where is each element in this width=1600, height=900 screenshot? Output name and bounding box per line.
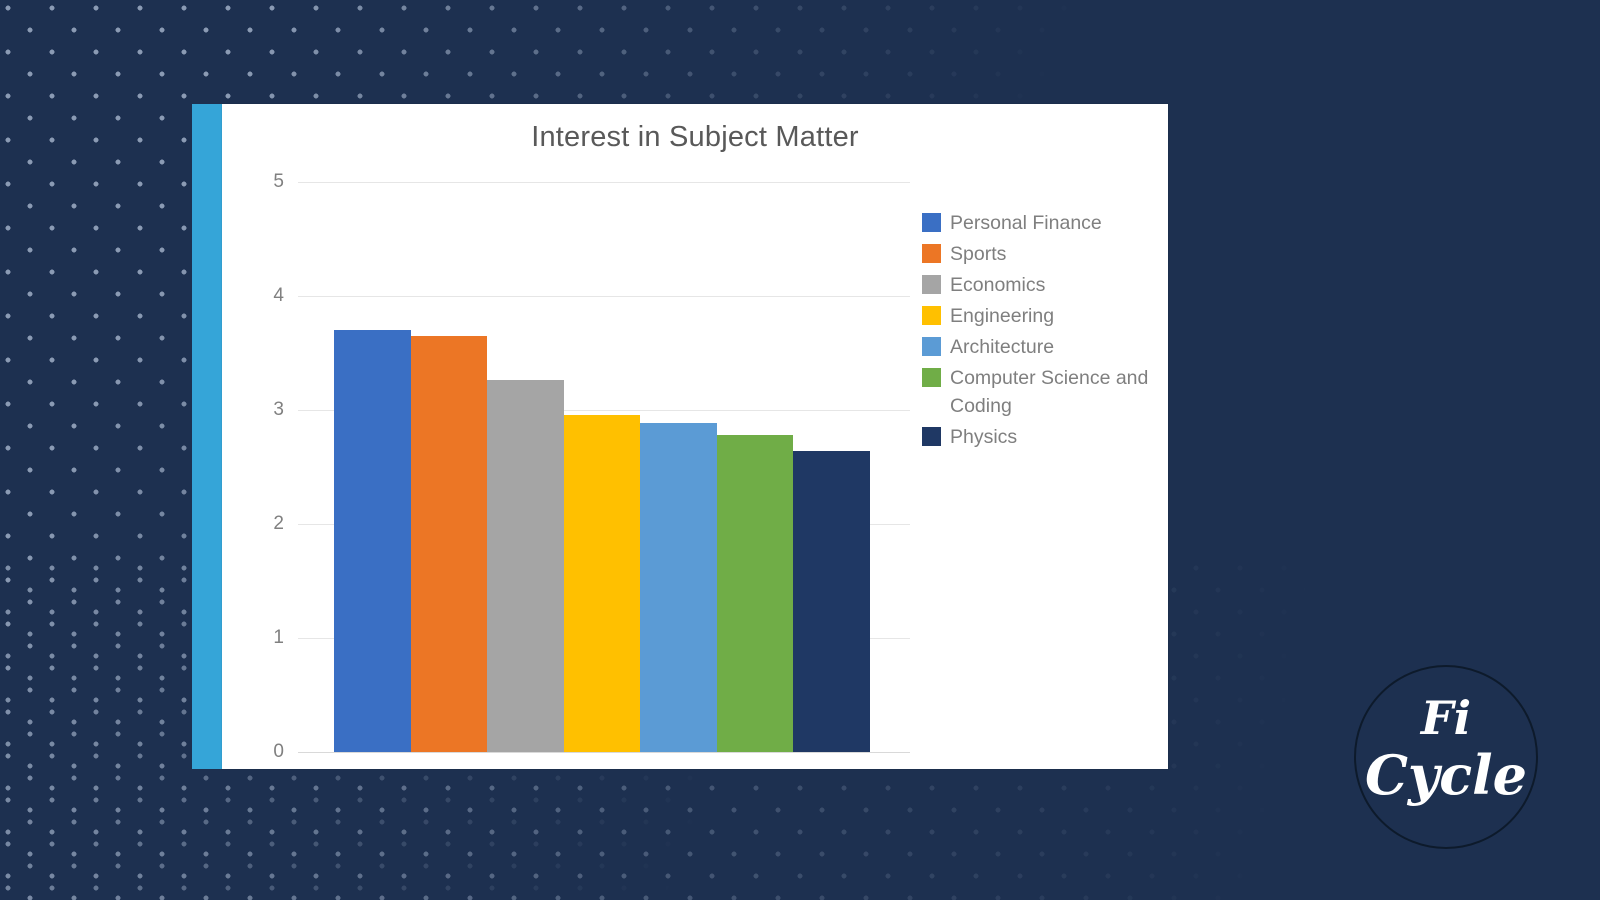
gridline <box>298 752 910 753</box>
chart-card: Interest in Subject Matter 543210 Person… <box>192 104 1168 769</box>
legend-swatch-icon <box>922 275 941 294</box>
y-axis-tick-label: 0 <box>250 741 284 763</box>
bar <box>411 336 488 752</box>
legend-item[interactable]: Economics <box>922 271 1180 299</box>
chart-legend: Personal FinanceSportsEconomicsEngineeri… <box>922 209 1180 454</box>
legend-swatch-icon <box>922 337 941 356</box>
logo-text-cycle: Cycle <box>1354 743 1538 807</box>
chart-panel: Interest in Subject Matter 543210 Person… <box>222 104 1168 769</box>
legend-swatch-icon <box>922 368 941 387</box>
legend-item[interactable]: Physics <box>922 423 1180 451</box>
legend-swatch-icon <box>922 244 941 263</box>
bar <box>487 380 564 752</box>
legend-item[interactable]: Computer Science and Coding <box>922 364 1180 420</box>
legend-item[interactable]: Personal Finance <box>922 209 1180 237</box>
legend-item-label: Computer Science and Coding <box>950 364 1180 420</box>
legend-item[interactable]: Architecture <box>922 333 1180 361</box>
legend-swatch-icon <box>922 306 941 325</box>
legend-item[interactable]: Sports <box>922 240 1180 268</box>
bar <box>564 415 641 752</box>
logo-text-fi: Fi <box>1354 691 1538 745</box>
bar <box>640 423 717 752</box>
y-axis-tick-label: 5 <box>250 171 284 193</box>
bar-series <box>334 182 870 752</box>
chart-title: Interest in Subject Matter <box>222 121 1168 154</box>
legend-swatch-icon <box>922 213 941 232</box>
y-axis-tick-label: 3 <box>250 399 284 421</box>
y-axis-tick-label: 2 <box>250 513 284 535</box>
legend-item-label: Engineering <box>950 302 1054 330</box>
y-axis-tick-label: 1 <box>250 627 284 649</box>
legend-item[interactable]: Engineering <box>922 302 1180 330</box>
fi-cycle-logo: Fi Cycle <box>1354 665 1538 849</box>
bar <box>793 451 870 752</box>
bar <box>334 330 411 752</box>
legend-swatch-icon <box>922 427 941 446</box>
y-axis-tick-label: 4 <box>250 285 284 307</box>
bar <box>717 435 794 752</box>
legend-item-label: Sports <box>950 240 1006 268</box>
plot-area: 543210 <box>250 182 910 752</box>
accent-bar <box>192 104 222 769</box>
legend-item-label: Physics <box>950 423 1017 451</box>
legend-item-label: Architecture <box>950 333 1054 361</box>
legend-item-label: Personal Finance <box>950 209 1102 237</box>
legend-item-label: Economics <box>950 271 1045 299</box>
